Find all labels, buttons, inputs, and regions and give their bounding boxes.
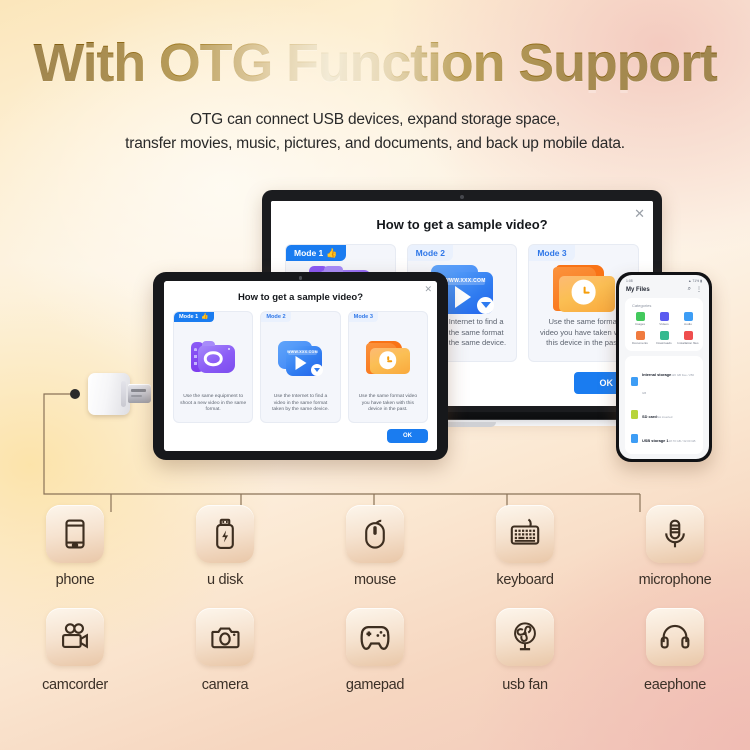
dialog-card-mode-2-caption: Use the Internet to find a video in the …: [261, 394, 339, 422]
category-item[interactable]: Images: [629, 312, 651, 326]
peripheral-label: u disk: [207, 572, 243, 588]
download-icon: [477, 297, 494, 314]
status-indicators: ▲ 71% ▮: [688, 279, 702, 283]
storage-sub: 18.70 GB / 32.00 GB: [669, 439, 696, 443]
peripheral-tile: [196, 505, 254, 563]
badge-mode-3: Mode 3: [529, 245, 574, 261]
dialog-card-mode-3[interactable]: Mode 3 Use the same format video you hav…: [348, 311, 428, 423]
peripheral-microphone[interactable]: microphone: [600, 505, 750, 588]
peripheral-label: camcorder: [42, 677, 108, 693]
usb-storage-icon: [631, 434, 638, 443]
peripheral-tile: [346, 608, 404, 666]
dialog-title: How to get a sample video?: [173, 292, 428, 303]
peripheral-u-disk[interactable]: u disk: [150, 505, 300, 588]
tablet-frame: ✕ How to get a sample video? Mode 1 👍: [153, 272, 448, 460]
installation-files-icon: [684, 331, 693, 340]
peripheral-phone[interactable]: phone: [0, 505, 150, 588]
peripheral-tile: [646, 608, 704, 666]
camera-icon: [208, 620, 242, 654]
dialog-card-list: Mode 1 👍 Use the same equipment to shoot…: [173, 311, 428, 423]
otg-usb-a-body: [88, 373, 130, 415]
peripheral-label: keyboard: [496, 572, 553, 588]
dialog-footer: OK: [173, 423, 428, 443]
status-time: 1:08: [626, 279, 633, 283]
thumbs-up-icon: 👍: [326, 249, 337, 258]
dialog-card-mode-3-art: [349, 312, 427, 394]
peripheral-grid: phone u disk mouse: [0, 505, 750, 693]
camera-icon: [191, 340, 235, 377]
peripheral-tile: [196, 608, 254, 666]
peripheral-camera[interactable]: camera: [150, 608, 300, 693]
sd-card-icon: [631, 410, 638, 419]
category-label: Videos: [659, 323, 668, 326]
peripheral-camcorder[interactable]: camcorder: [0, 608, 150, 693]
peripheral-mouse[interactable]: mouse: [300, 505, 450, 588]
more-menu-icon[interactable]: ⋮: [696, 286, 702, 293]
peripheral-tile: [496, 608, 554, 666]
camcorder-icon: [58, 620, 92, 654]
usb-flash-drive-icon: [208, 517, 242, 551]
usb-fan-icon: [508, 620, 542, 654]
peripheral-label: usb fan: [502, 677, 547, 693]
badge-mode-2-label: Mode 2: [266, 314, 285, 320]
app-title: My Files: [626, 287, 650, 293]
badge-mode-1: Mode 1 👍: [174, 312, 214, 322]
video-url-label: WWW.XXX.COM: [445, 278, 485, 285]
close-icon[interactable]: ✕: [634, 207, 645, 220]
badge-mode-3-label: Mode 3: [354, 314, 373, 320]
otg-micro-usb-plug: [128, 384, 151, 403]
otg-adapter: [88, 373, 148, 415]
laptop-webcam-icon: [460, 195, 464, 199]
category-item[interactable]: Audio: [677, 312, 699, 326]
phone-frame: 1:08 ▲ 71% ▮ My Files ⌕ ⋮ Categories Ima…: [616, 272, 712, 462]
tablet-screen: ✕ How to get a sample video? Mode 1 👍: [164, 281, 437, 451]
peripheral-label: microphone: [639, 572, 712, 588]
subtitle-line-2: transfer movies, music, pictures, and do…: [0, 132, 750, 156]
peripheral-label: mouse: [354, 572, 396, 588]
dialog-card-mode-1-caption: Use the same equipment to shoot a new vi…: [174, 394, 252, 422]
thumbs-up-icon: 👍: [201, 314, 208, 320]
images-icon: [636, 312, 645, 321]
storage-name: SD card: [642, 414, 657, 419]
badge-mode-2: Mode 2: [408, 245, 453, 261]
peripheral-tile: [346, 505, 404, 563]
close-icon[interactable]: ✕: [424, 285, 432, 294]
storage-sub: Not inserted: [657, 415, 673, 419]
documents-icon: [636, 331, 645, 340]
badge-mode-1-label: Mode 1: [179, 314, 198, 320]
peripheral-tile: [46, 608, 104, 666]
tablet-device: ✕ How to get a sample video? Mode 1 👍: [153, 272, 448, 460]
dialog-card-mode-1-art: [174, 312, 252, 394]
peripheral-tile: [496, 505, 554, 563]
badge-mode-2: Mode 2: [261, 312, 290, 322]
internal-storage-icon: [631, 377, 638, 386]
peripheral-tile: [46, 505, 104, 563]
video-url-label: WWW.XXX.COM: [288, 350, 316, 355]
storage-name: Internal storage: [642, 372, 671, 377]
header: With OTG Function Support OTG can connec…: [0, 0, 750, 156]
category-item[interactable]: Videos: [653, 312, 675, 326]
dialog-title: How to get a sample video?: [285, 217, 639, 232]
peripheral-usb-fan[interactable]: usb fan: [450, 608, 600, 693]
storage-row[interactable]: Internal storage120 GB free / 256 GB: [630, 360, 698, 402]
phone-screen: 1:08 ▲ 71% ▮ My Files ⌕ ⋮ Categories Ima…: [619, 275, 709, 459]
category-label: Documents: [632, 342, 648, 345]
video-download-icon: WWW.XXX.COM: [278, 340, 322, 377]
tablet-webcam-icon: [299, 276, 303, 280]
phone-app-header: My Files ⌕ ⋮: [619, 284, 709, 298]
ok-button[interactable]: OK: [387, 429, 428, 443]
dialog-card-mode-1[interactable]: Mode 1 👍 Use the same equipment to shoot…: [173, 311, 253, 423]
videos-icon: [660, 312, 669, 321]
peripheral-earphone[interactable]: eaephone: [600, 608, 750, 693]
dialog-card-mode-2[interactable]: Mode 2 WWW.XXX.COM: [260, 311, 340, 423]
folder-clock-icon: [366, 340, 410, 377]
peripheral-label: eaephone: [644, 677, 706, 693]
badge-mode-1-label: Mode 1: [294, 248, 323, 258]
dialog-card-mode-2-art: WWW.XXX.COM: [261, 312, 339, 394]
subtitle-line-1: OTG can connect USB devices, expand stor…: [0, 108, 750, 132]
category-label: Installation files: [677, 342, 698, 345]
peripheral-gamepad[interactable]: gamepad: [300, 608, 450, 693]
phone-categories-card: Categories Images Videos Audio Documents…: [625, 298, 703, 351]
peripheral-tile: [646, 505, 704, 563]
dialog-card-mode-3-caption: Use the same format video you have taken…: [349, 394, 427, 422]
phone-status-bar: 1:08 ▲ 71% ▮: [619, 275, 709, 284]
peripheral-keyboard[interactable]: keyboard: [450, 505, 600, 588]
phone-icon: [58, 517, 92, 551]
microphone-icon: [658, 517, 692, 551]
category-label: Downloads: [656, 342, 671, 345]
mouse-icon: [358, 517, 392, 551]
badge-mode-3-label: Mode 3: [537, 248, 566, 258]
category-label: Audio: [684, 323, 692, 326]
categories-label: Categories: [632, 303, 699, 308]
badge-mode-2-label: Mode 2: [416, 248, 445, 258]
audio-icon: [684, 312, 693, 321]
download-icon: [311, 364, 323, 376]
downloads-icon: [660, 331, 669, 340]
peripheral-label: gamepad: [346, 677, 404, 693]
search-icon[interactable]: ⌕: [688, 286, 691, 293]
folder-clock-icon: [553, 263, 615, 315]
category-item[interactable]: Downloads: [653, 331, 675, 345]
peripheral-row-2: camcorder camera gamepad: [0, 608, 750, 693]
category-item[interactable]: Documents: [629, 331, 651, 345]
category-item[interactable]: Installation files: [677, 331, 699, 345]
headphones-icon: [658, 620, 692, 654]
storage-row[interactable]: USB storage 118.70 GB / 32.00 GB: [630, 426, 698, 450]
peripheral-label: camera: [202, 677, 249, 693]
keyboard-icon: [507, 516, 543, 552]
page-title: With OTG Function Support: [0, 36, 750, 90]
phone-device: 1:08 ▲ 71% ▮ My Files ⌕ ⋮ Categories Ima…: [616, 272, 712, 462]
badge-mode-3: Mode 3: [349, 312, 378, 322]
peripheral-row-1: phone u disk mouse: [0, 505, 750, 588]
peripheral-label: phone: [56, 572, 95, 588]
categories-grid: Images Videos Audio Documents Downloads …: [629, 312, 699, 345]
storage-row[interactable]: SD cardNot inserted: [630, 402, 698, 426]
badge-mode-1: Mode 1 👍: [286, 245, 346, 261]
storage-name: USB storage 1: [642, 438, 669, 443]
page-subtitle: OTG can connect USB devices, expand stor…: [0, 108, 750, 156]
tablet-sample-video-dialog: ✕ How to get a sample video? Mode 1 👍: [164, 281, 437, 451]
phone-storage-list: Internal storage120 GB free / 256 GB SD …: [625, 356, 703, 454]
gamepad-icon: [357, 619, 393, 655]
category-label: Images: [635, 323, 645, 326]
